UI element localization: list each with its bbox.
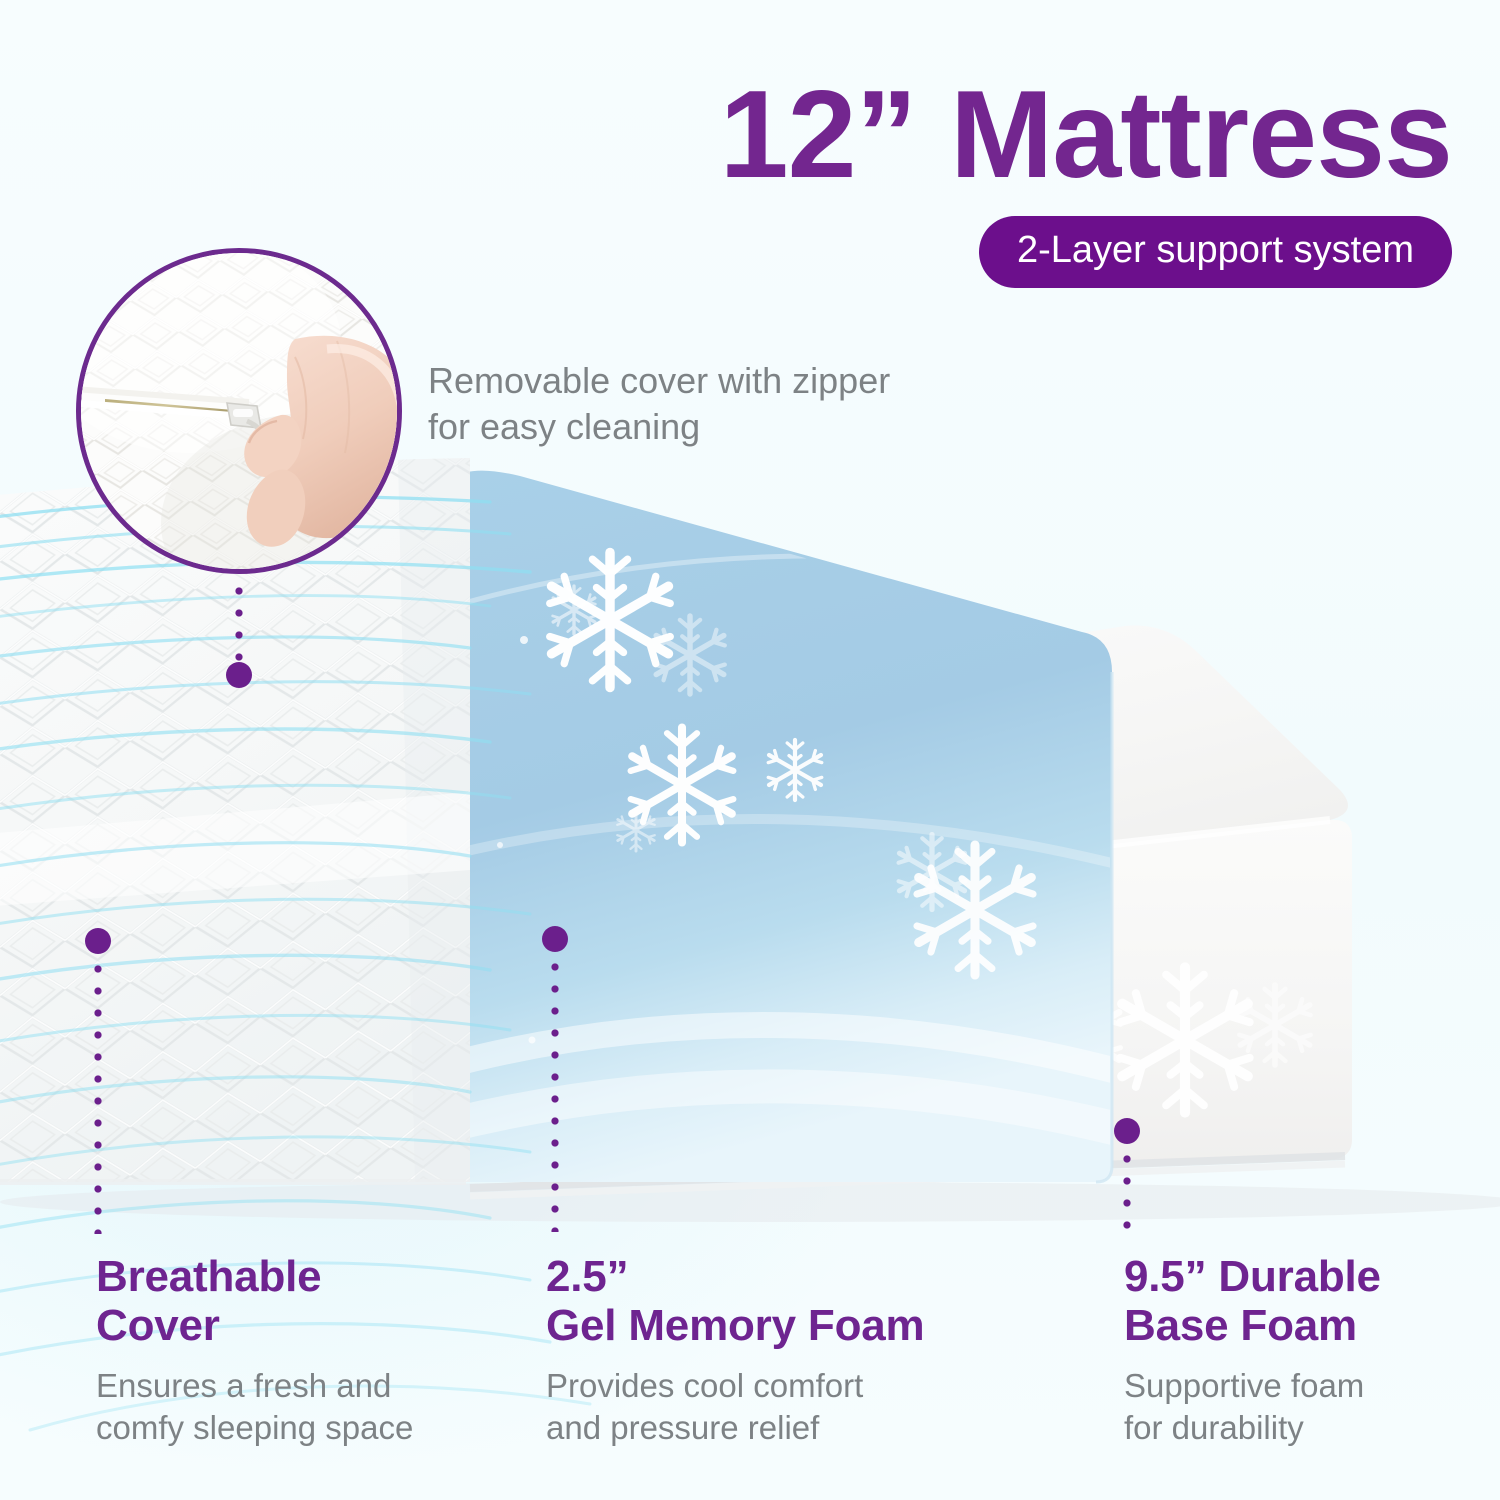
feature-description: Ensures a fresh and comfy sleeping space [96,1365,496,1449]
feature-heading-line-2: Cover [96,1301,220,1350]
feature-description-line-2: and pressure relief [546,1409,819,1446]
connector-anchor-dot [85,928,111,954]
status-badge: 2-Layer support system [979,216,1452,288]
feature-description-line-2: comfy sleeping space [96,1409,413,1446]
page-title: 12” Mattress [0,70,1452,200]
feature-heading: 2.5” Gel Memory Foam [546,1252,1016,1351]
zipper-callout-line-1: Removable cover with zipper [428,358,988,404]
zipper-callout-text: Removable cover with zipper for easy cle… [428,358,988,450]
connector-dots [234,580,244,664]
feature-heading-line-1: Breathable [96,1252,321,1301]
product-infographic: 12” Mattress 2-Layer support system [0,0,1500,1500]
zipper-callout-line-2: for easy cleaning [428,404,988,450]
connector-dots [93,958,103,1234]
connector-dots [1122,1148,1132,1236]
zipper-pull-icon [81,253,397,569]
feature-description-line-1: Ensures a fresh and [96,1367,391,1404]
zipper-detail-inset [76,248,402,574]
feature-list: Breathable Cover Ensures a fresh and com… [0,1252,1500,1482]
feature-description-line-1: Provides cool comfort [546,1367,863,1404]
connector-breathable-cover [85,928,111,1238]
feature-heading: Breathable Cover [96,1252,496,1351]
connector-endpoint-dot [226,662,252,688]
feature-gel-memory-foam: 2.5” Gel Memory Foam Provides cool comfo… [546,1252,1016,1449]
feature-heading: 9.5” Durable Base Foam [1124,1252,1500,1351]
connector-zipper-detail [226,580,252,688]
feature-heading-line-2: Base Foam [1124,1301,1357,1350]
feature-breathable-cover: Breathable Cover Ensures a fresh and com… [96,1252,496,1449]
connector-anchor-dot [542,926,568,952]
feature-heading-line-1: 9.5” Durable [1124,1252,1381,1301]
connector-gel-memory-foam [542,926,568,1236]
feature-description: Supportive foam for durability [1124,1365,1500,1449]
connector-anchor-dot [1114,1118,1140,1144]
feature-heading-line-1: 2.5” [546,1252,628,1301]
feature-durable-base-foam: 9.5” Durable Base Foam Supportive foam f… [1124,1252,1500,1449]
connector-dots [550,956,560,1232]
feature-description: Provides cool comfort and pressure relie… [546,1365,1016,1449]
feature-heading-line-2: Gel Memory Foam [546,1301,924,1350]
feature-description-line-2: for durability [1124,1409,1304,1446]
feature-description-line-1: Supportive foam [1124,1367,1364,1404]
connector-base-foam [1114,1118,1140,1240]
